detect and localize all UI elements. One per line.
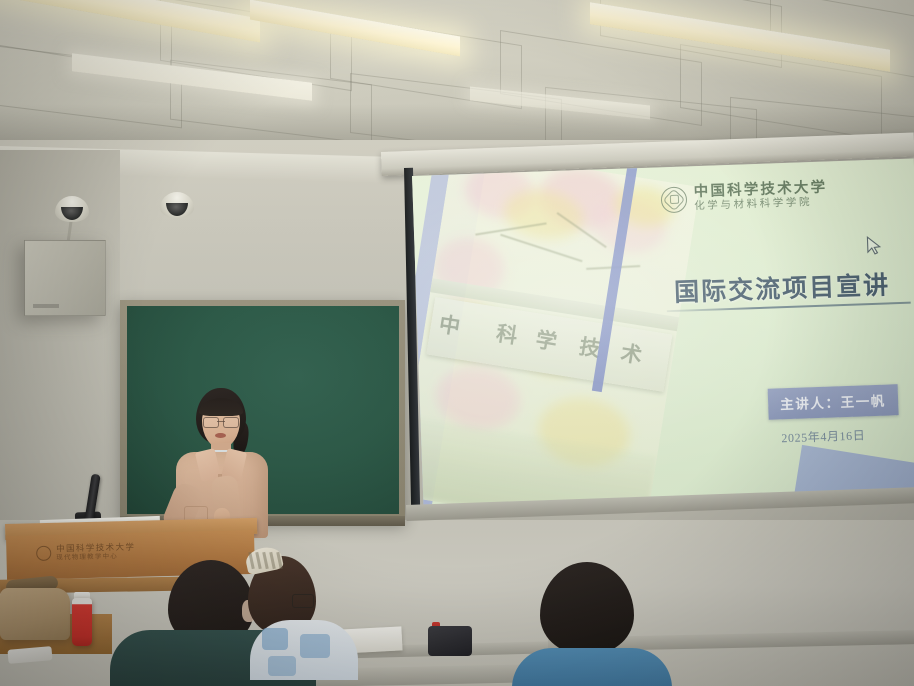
hair-clip-teeth bbox=[250, 552, 280, 570]
camera-device bbox=[428, 626, 472, 656]
projection-screen: 中 科 学 技 术 中国科学技术大学 化学与材料科学学院 国际交流项目宣讲 主讲… bbox=[412, 158, 914, 515]
backpack bbox=[0, 588, 70, 640]
ceiling bbox=[0, 0, 914, 152]
slide-logo-block: 中国科学技术大学 化学与材料科学学院 bbox=[660, 180, 828, 215]
wall-speaker-icon bbox=[24, 240, 106, 316]
eyeglasses-icon bbox=[203, 417, 239, 426]
eyeglasses-icon bbox=[292, 594, 314, 608]
slide-presenter-badge: 主讲人：王一帆 bbox=[768, 384, 899, 420]
slide-title: 国际交流项目宣讲 bbox=[674, 265, 891, 309]
lectern-sign: 中国科学技术大学 现代物理教学中心 bbox=[36, 542, 136, 563]
slide-date: 2025年4月16日 bbox=[781, 426, 866, 446]
drink-bottle bbox=[72, 598, 92, 646]
ustc-crest-icon bbox=[36, 546, 51, 561]
dome-camera-icon bbox=[160, 192, 194, 218]
dome-camera-icon bbox=[55, 196, 89, 222]
lecture-hall-photo: 中 科 学 技 术 中国科学技术大学 化学与材料科学学院 国际交流项目宣讲 主讲… bbox=[0, 0, 914, 686]
presenter-person bbox=[168, 388, 276, 538]
ustc-crest-icon bbox=[661, 186, 688, 213]
